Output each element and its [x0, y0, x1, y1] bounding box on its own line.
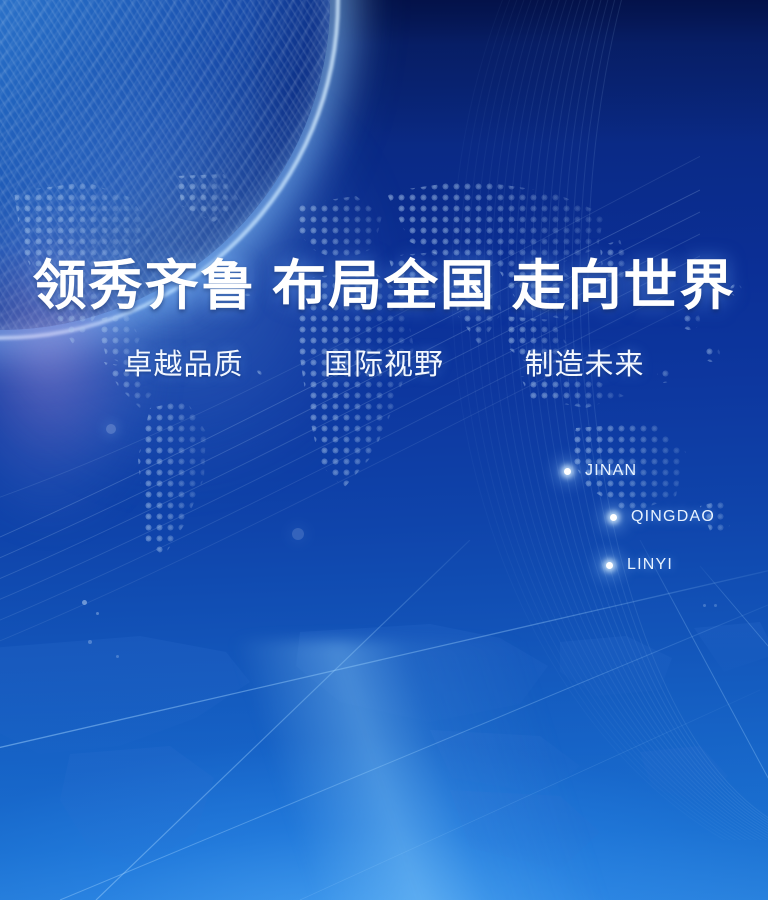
sparkle-dot: [116, 655, 119, 658]
hero-banner: 领秀齐鲁 布局全国 走向世界 卓越品质 国际视野 制造未来 JINAN QING…: [0, 0, 768, 900]
city-label: QINGDAO: [631, 508, 715, 526]
city-label: JINAN: [585, 462, 637, 480]
sparkle-dot: [96, 612, 99, 615]
sparkle-dot: [106, 424, 116, 434]
light-streak: [0, 640, 768, 900]
city-marker-linyi[interactable]: LINYI: [606, 556, 673, 574]
subtitle: 卓越品质 国际视野 制造未来: [0, 341, 768, 383]
sparkle-dot: [292, 528, 304, 540]
location-pin-icon: [564, 468, 571, 475]
location-pin-icon: [610, 514, 617, 521]
sparkle-dot: [82, 600, 87, 605]
city-marker-qingdao[interactable]: QINGDAO: [610, 508, 715, 526]
headline-block: 领秀齐鲁 布局全国 走向世界 卓越品质 国际视野 制造未来: [0, 258, 768, 383]
city-marker-jinan[interactable]: JINAN: [564, 462, 637, 480]
subtitle-part-vision: 国际视野: [324, 349, 444, 381]
sparkle-dot: [714, 604, 717, 607]
sparkle-dot: [703, 604, 706, 607]
page-title: 领秀齐鲁 布局全国 走向世界: [0, 258, 768, 315]
location-pin-icon: [606, 562, 613, 569]
sparkle-dot: [88, 640, 92, 644]
subtitle-part-future: 制造未来: [525, 349, 645, 381]
subtitle-part-quality: 卓越品质: [123, 349, 243, 381]
city-label: LINYI: [627, 556, 673, 574]
